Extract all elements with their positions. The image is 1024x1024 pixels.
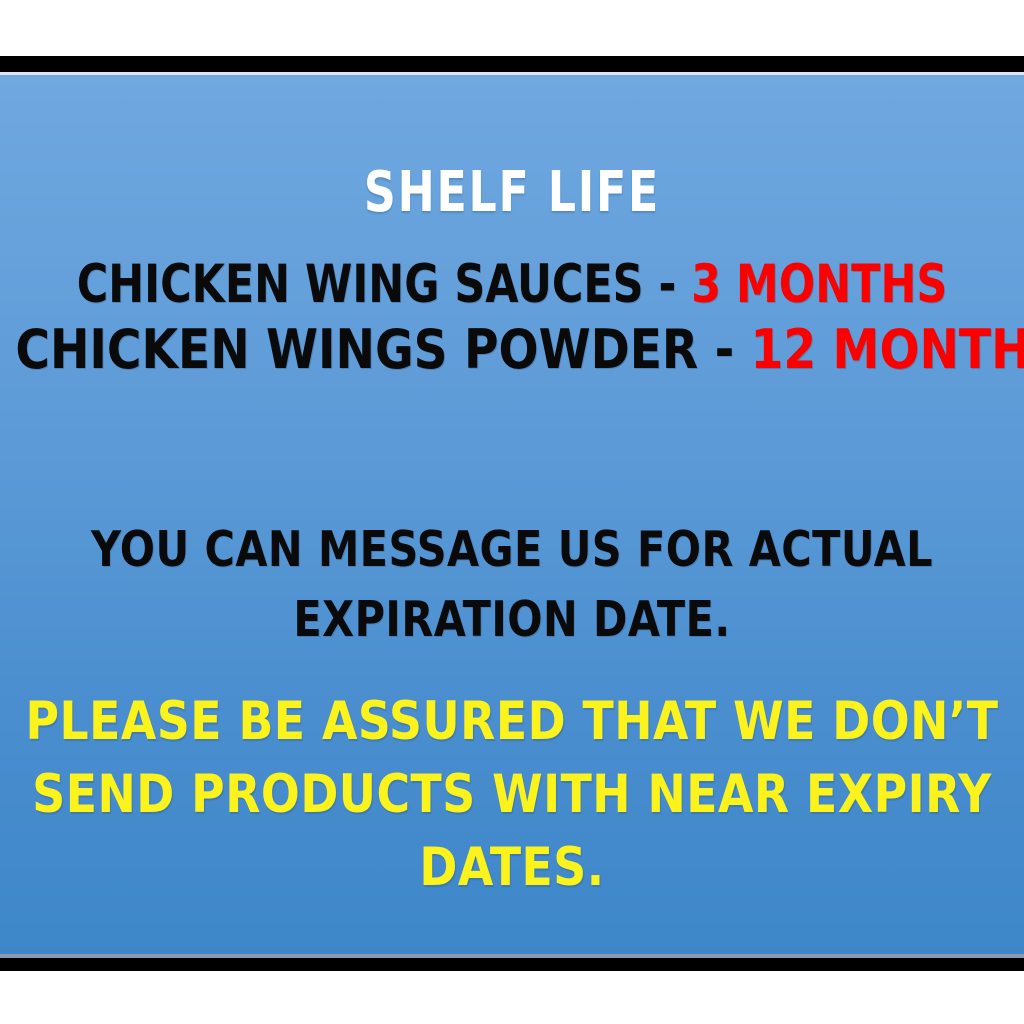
shelf-life-list: CHICKEN WING SAUCES - 3 MONTHS CHICKEN W… [0, 257, 1024, 386]
shelf-life-poster: SHELF LIFE CHICKEN WING SAUCES - 3 MONTH… [0, 75, 1024, 954]
duration-sauces: 3 MONTHS [691, 254, 947, 315]
contact-message: YOU CAN MESSAGE US FOR ACTUAL EXPIRATION… [31, 515, 994, 654]
expiry-assurance: PLEASE BE ASSURED THAT WE DON’T SEND PRO… [20, 685, 1003, 904]
contact-message-line-2: EXPIRATION DATE. [31, 585, 994, 655]
product-name-sauces: CHICKEN WING SAUCES - [77, 254, 692, 315]
duration-powder: 12 MONTHS [751, 318, 1024, 381]
shelf-life-row-powder: CHICKEN WINGS POWDER - 12 MONTHS [15, 321, 1008, 378]
shelf-life-row-sauces: CHICKEN WING SAUCES - 3 MONTHS [51, 257, 973, 313]
image-canvas: SHELF LIFE CHICKEN WING SAUCES - 3 MONTH… [0, 0, 1024, 1024]
letterbox-bar-bottom [0, 958, 1024, 971]
expiry-assurance-line-1: PLEASE BE ASSURED THAT WE DON’T [20, 685, 1003, 758]
page-title: SHELF LIFE [61, 163, 962, 222]
letterbox-bar-top [0, 56, 1024, 72]
product-name-powder: CHICKEN WINGS POWDER - [15, 318, 750, 381]
contact-message-line-1: YOU CAN MESSAGE US FOR ACTUAL [31, 515, 994, 585]
expiry-assurance-line-2: SEND PRODUCTS WITH NEAR EXPIRY [20, 758, 1003, 831]
expiry-assurance-line-3: DATES. [20, 831, 1003, 904]
